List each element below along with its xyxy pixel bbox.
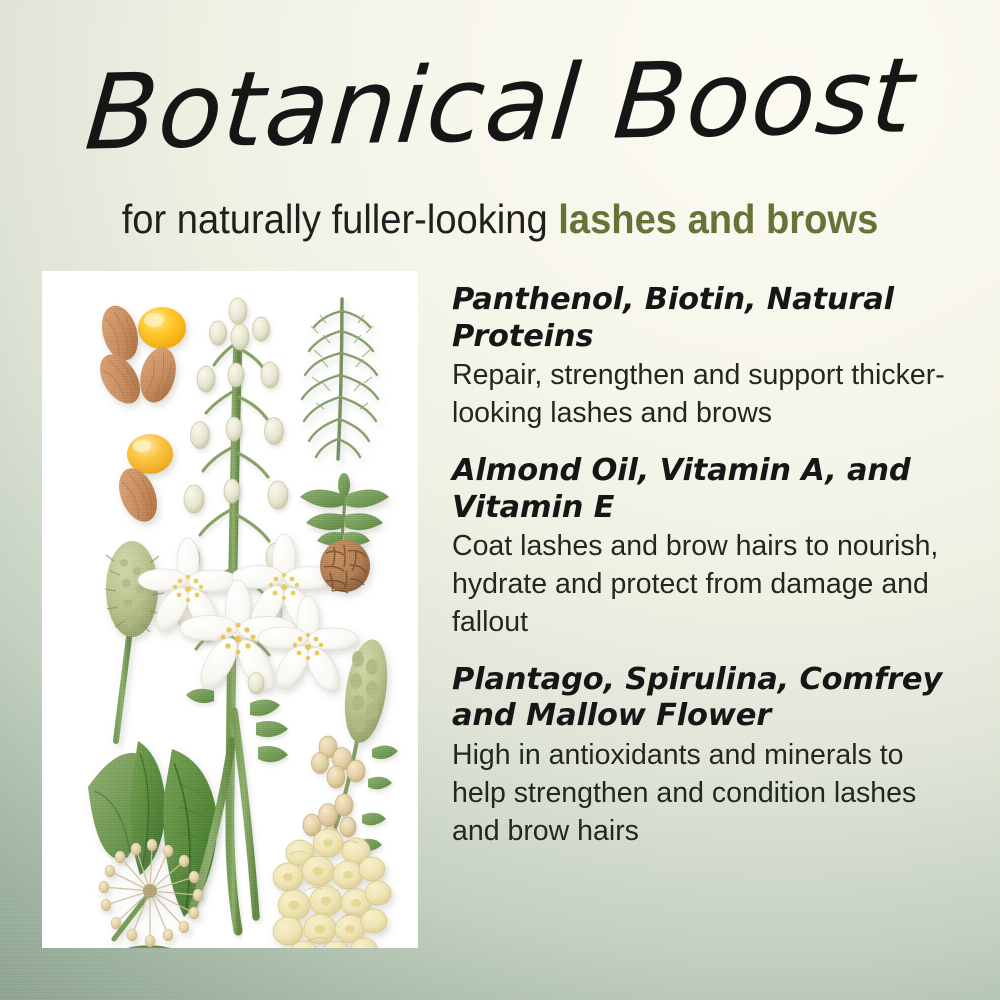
benefit-block-3: Plantago, Spirulina, Comfrey and Mallow … bbox=[452, 662, 964, 851]
almond-oil-droplet-top bbox=[138, 307, 186, 349]
benefit-body: Repair, strengthen and support thicker-l… bbox=[452, 357, 964, 433]
page-subtitle: for naturally fuller-looking lashes and … bbox=[35, 196, 965, 243]
benefit-heading: Plantago, Spirulina, Comfrey and Mallow … bbox=[452, 662, 964, 735]
almond-oil-droplet-bottom bbox=[127, 434, 173, 474]
botanical-flatlay-illustration bbox=[42, 271, 418, 948]
poster-canvas: Botanical Boost for naturally fuller-loo… bbox=[0, 0, 1000, 1000]
botanical-photo-card bbox=[42, 271, 418, 948]
benefit-block-1: Panthenol, Biotin, Natural Proteins Repa… bbox=[452, 282, 964, 433]
benefit-heading: Almond Oil, Vitamin A, and Vitamin E bbox=[452, 453, 964, 526]
benefit-body: High in antioxidants and minerals to hel… bbox=[452, 737, 964, 851]
page-title: Botanical Boost bbox=[0, 42, 1000, 167]
benefits-list: Panthenol, Biotin, Natural Proteins Repa… bbox=[452, 282, 964, 851]
benefit-body: Coat lashes and brow hairs to nourish, h… bbox=[452, 528, 964, 642]
subtitle-accent-text: lashes and brows bbox=[558, 196, 878, 242]
benefit-heading: Panthenol, Biotin, Natural Proteins bbox=[452, 282, 964, 355]
subtitle-lead-text: for naturally fuller-looking bbox=[122, 196, 559, 242]
benefit-block-2: Almond Oil, Vitamin A, and Vitamin E Coa… bbox=[452, 453, 964, 642]
